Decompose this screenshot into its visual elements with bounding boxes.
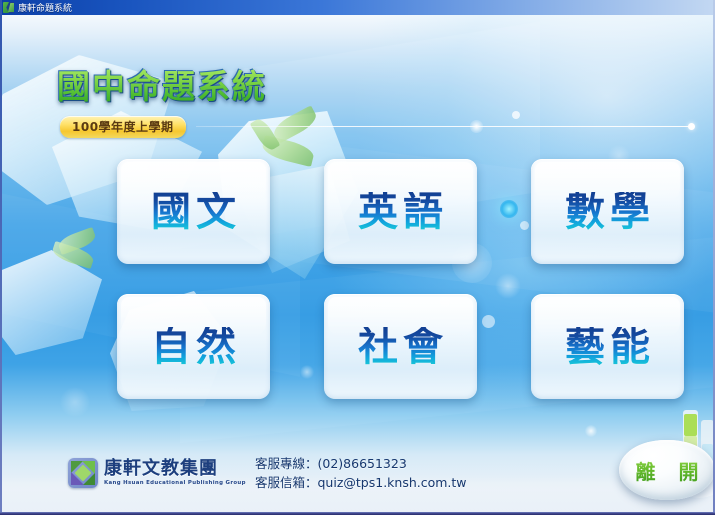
window-titlebar[interactable]: 康軒命題系統 <box>0 0 715 15</box>
subject-button-arts[interactable]: 藝能 <box>531 294 684 399</box>
subject-button-chinese[interactable]: 國文 <box>117 159 270 264</box>
term-badge: 100學年度上學期 <box>60 116 186 138</box>
kang-hsuan-logo-icon <box>68 458 98 488</box>
main-stage: 國中命題系統 100學年度上學期 國文 英語 數學 自然 社會 藝能 <box>0 15 715 515</box>
window-border-left <box>0 0 2 515</box>
exit-button-label: 離 開 <box>628 456 707 485</box>
brand-name-en: Kang Hsuan Educational Publishing Group <box>104 480 246 486</box>
exit-button[interactable]: 離 開 <box>619 440 715 500</box>
footer: 康軒文教集團 Kang Hsuan Educational Publishing… <box>0 440 715 515</box>
subject-label: 數學 <box>560 192 655 232</box>
title-divider-endpoint-icon <box>688 123 695 130</box>
page-title: 國中命題系統 <box>57 60 267 108</box>
service-phone: 客服專線：(02)86651323 <box>255 454 467 473</box>
window-title: 康軒命題系統 <box>18 1 72 14</box>
subject-button-social[interactable]: 社會 <box>324 294 477 399</box>
subject-button-science[interactable]: 自然 <box>117 294 270 399</box>
contact-info: 客服專線：(02)86651323 客服信箱：quiz@tps1.knsh.co… <box>255 454 467 493</box>
brand-logo-group: 康軒文教集團 Kang Hsuan Educational Publishing… <box>68 458 246 488</box>
app-logo-icon <box>3 2 14 13</box>
subject-label: 藝能 <box>560 327 655 367</box>
subject-label: 社會 <box>353 327 448 367</box>
subject-grid: 國文 英語 數學 自然 社會 藝能 <box>117 159 687 414</box>
subject-label: 英語 <box>353 192 448 232</box>
brand-name-zh: 康軒文教集團 <box>104 460 246 479</box>
service-email: 客服信箱：quiz@tps1.knsh.com.tw <box>255 473 467 492</box>
application-window: 康軒命題系統 國中命題系統 <box>0 0 715 515</box>
title-divider <box>196 126 693 127</box>
subject-button-english[interactable]: 英語 <box>324 159 477 264</box>
subject-label: 自然 <box>146 327 241 367</box>
subject-button-math[interactable]: 數學 <box>531 159 684 264</box>
subject-label: 國文 <box>146 192 241 232</box>
